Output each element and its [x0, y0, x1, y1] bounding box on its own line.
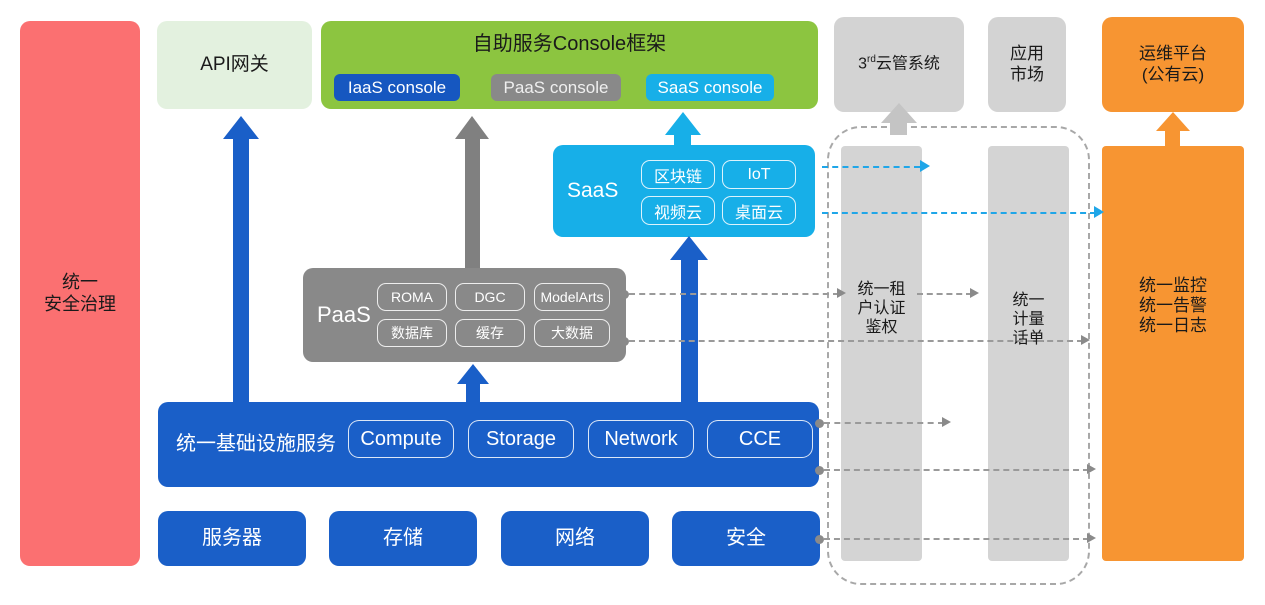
- dashed-arrow-saas-to-auth-line: [822, 166, 920, 168]
- paas-item-bigdata[interactable]: 大数据: [534, 319, 610, 347]
- paas-console-tag[interactable]: PaaS console: [491, 74, 621, 101]
- unified-monitoring-column[interactable]: 统一监控 统一告警 统一日志: [1102, 146, 1244, 561]
- ops-platform-box[interactable]: 运维平台 (公有云): [1102, 17, 1244, 112]
- paas-item-database[interactable]: 数据库: [377, 319, 447, 347]
- arrow-monitoring-to-ops-platform-head: [1156, 112, 1190, 131]
- saas-item-video-cloud-label: 视频云: [654, 199, 702, 223]
- saas-item-blockchain-label: 区块链: [654, 163, 702, 187]
- app-market-label-line1: 应用: [1010, 44, 1044, 64]
- paas-console-label: PaaS console: [504, 78, 609, 98]
- monitoring-label-line3: 统一日志: [1139, 316, 1207, 336]
- saas-item-desktop-cloud-label: 桌面云: [735, 199, 783, 223]
- iaas-item-cce-label: CCE: [739, 428, 781, 451]
- dashed-arrow-auth-to-metering-head: [970, 288, 979, 298]
- third-party-cloud-mgmt-label: 3rd云管系统: [858, 54, 940, 74]
- third-party-cloud-mgmt-box[interactable]: 3rd云管系统: [834, 17, 964, 112]
- arrow-paas-to-console-shaft: [465, 137, 480, 268]
- dashed-arrow-iaas-to-auth-line: [824, 422, 944, 424]
- saas-item-iot-label: IoT: [747, 166, 770, 184]
- paas-label: PaaS: [317, 268, 371, 362]
- saas-item-video-cloud[interactable]: 视频云: [641, 196, 715, 225]
- saas-item-iot[interactable]: IoT: [722, 160, 796, 189]
- iaas-item-compute-label: Compute: [360, 428, 441, 451]
- dashed-arrow-iaas-to-monitoring-head: [1087, 464, 1096, 474]
- arrow-infra-to-api-gateway-shaft: [233, 137, 249, 402]
- metering-label-line2: 计量: [1012, 311, 1044, 330]
- security-governance-column[interactable]: 统一 安全治理: [20, 21, 140, 566]
- arrow-paas-to-console-head: [455, 116, 489, 139]
- dashed-connector-dot-hardware: [815, 535, 824, 544]
- app-market-box[interactable]: 应用 市场: [988, 17, 1066, 112]
- api-gateway-label: API网关: [200, 54, 269, 76]
- hardware-item-network-label: 网络: [555, 527, 595, 551]
- dashed-connector-dot-paas-bottom: [620, 337, 629, 346]
- hardware-item-storage-label: 存储: [383, 527, 423, 551]
- auth-label-line2: 户认证: [857, 300, 905, 319]
- dashed-arrow-paas-to-metering-head: [1081, 335, 1090, 345]
- ops-platform-label-line1: 运维平台: [1139, 44, 1207, 64]
- security-governance-label-line1: 统一: [44, 272, 116, 293]
- paas-item-roma[interactable]: ROMA: [377, 283, 447, 311]
- paas-item-modelarts-label: ModelArts: [540, 289, 603, 305]
- paas-item-database-label: 数据库: [391, 323, 433, 343]
- dashed-arrow-saas-to-auth-head: [920, 160, 930, 172]
- paas-item-cache[interactable]: 缓存: [455, 319, 525, 347]
- third-party-superscript: rd: [867, 54, 876, 65]
- arrow-infra-to-saas-head: [670, 236, 708, 260]
- third-party-prefix: 3: [858, 56, 867, 73]
- arrow-shared-to-third-party-head: [881, 103, 917, 123]
- dashed-arrow-paas-to-metering-line: [629, 340, 1083, 342]
- paas-item-modelarts[interactable]: ModelArts: [534, 283, 610, 311]
- dashed-arrow-paas-to-auth-line: [629, 293, 839, 295]
- dashed-connector-dot-iaas-top: [815, 419, 824, 428]
- dashed-arrow-paas-to-auth-head: [837, 288, 846, 298]
- hardware-item-server[interactable]: 服务器: [158, 511, 306, 566]
- dashed-arrow-auth-to-metering-line: [917, 293, 972, 295]
- unified-metering-column[interactable]: 统一 计量 话单: [988, 146, 1069, 561]
- dashed-arrow-iaas-to-monitoring-line: [824, 469, 1089, 471]
- iaas-console-label: IaaS console: [348, 78, 446, 98]
- arrow-infra-to-paas-head: [457, 364, 489, 384]
- dashed-connector-dot-iaas-bottom: [815, 466, 824, 475]
- paas-item-roma-label: ROMA: [391, 289, 433, 305]
- console-framework-title: 自助服务Console框架: [321, 21, 818, 57]
- auth-label-line3: 鉴权: [857, 319, 905, 338]
- dashed-arrow-hardware-to-monitoring-line: [824, 538, 1089, 540]
- ops-platform-label-line2: (公有云): [1139, 65, 1207, 85]
- arrow-infra-to-api-gateway-head: [223, 116, 259, 139]
- iaas-item-compute[interactable]: Compute: [348, 420, 454, 458]
- dashed-arrow-saas-to-monitoring-line: [822, 212, 1096, 214]
- saas-item-blockchain[interactable]: 区块链: [641, 160, 715, 189]
- saas-item-desktop-cloud[interactable]: 桌面云: [722, 196, 796, 225]
- arrow-infra-to-paas-shaft: [466, 382, 480, 402]
- auth-label-line1: 统一租: [857, 281, 905, 300]
- metering-label-line1: 统一: [1012, 292, 1044, 311]
- iaas-item-network-label: Network: [604, 428, 677, 451]
- unified-tenant-auth-column[interactable]: 统一租 户认证 鉴权: [841, 146, 922, 561]
- iaas-console-tag[interactable]: IaaS console: [334, 74, 460, 101]
- paas-item-dgc[interactable]: DGC: [455, 283, 525, 311]
- saas-label: SaaS: [567, 145, 618, 237]
- hardware-item-security[interactable]: 安全: [672, 511, 820, 566]
- hardware-item-server-label: 服务器: [202, 527, 262, 551]
- dashed-arrow-saas-to-monitoring-head: [1094, 206, 1104, 218]
- architecture-diagram: 统一 安全治理 API网关 自助服务Console框架 IaaS console…: [0, 0, 1265, 605]
- hardware-item-storage[interactable]: 存储: [329, 511, 477, 566]
- security-governance-label-line2: 安全治理: [44, 294, 116, 315]
- arrow-infra-to-saas-shaft: [681, 258, 698, 402]
- iaas-item-cce[interactable]: CCE: [707, 420, 813, 458]
- paas-item-dgc-label: DGC: [474, 289, 505, 305]
- unified-infrastructure-label: 统一基础设施服务: [176, 402, 336, 487]
- iaas-item-storage-label: Storage: [486, 428, 556, 451]
- api-gateway-box[interactable]: API网关: [157, 21, 312, 109]
- paas-item-cache-label: 缓存: [476, 323, 504, 343]
- hardware-item-security-label: 安全: [726, 527, 766, 551]
- app-market-label-line2: 市场: [1010, 65, 1044, 85]
- saas-console-label: SaaS console: [658, 78, 763, 98]
- iaas-item-storage[interactable]: Storage: [468, 420, 574, 458]
- monitoring-label-line2: 统一告警: [1139, 296, 1207, 316]
- dashed-arrow-hardware-to-monitoring-head: [1087, 533, 1096, 543]
- iaas-item-network[interactable]: Network: [588, 420, 694, 458]
- third-party-rest: 云管系统: [876, 56, 940, 73]
- monitoring-label-line1: 统一监控: [1139, 276, 1207, 296]
- arrow-shared-to-third-party-shaft: [890, 121, 907, 135]
- arrow-saas-to-console-head: [665, 112, 701, 135]
- saas-console-tag[interactable]: SaaS console: [646, 74, 774, 101]
- paas-item-bigdata-label: 大数据: [551, 323, 593, 343]
- dashed-connector-dot-paas-top: [620, 290, 629, 299]
- hardware-item-network[interactable]: 网络: [501, 511, 649, 566]
- dashed-arrow-iaas-to-auth-head: [942, 417, 951, 427]
